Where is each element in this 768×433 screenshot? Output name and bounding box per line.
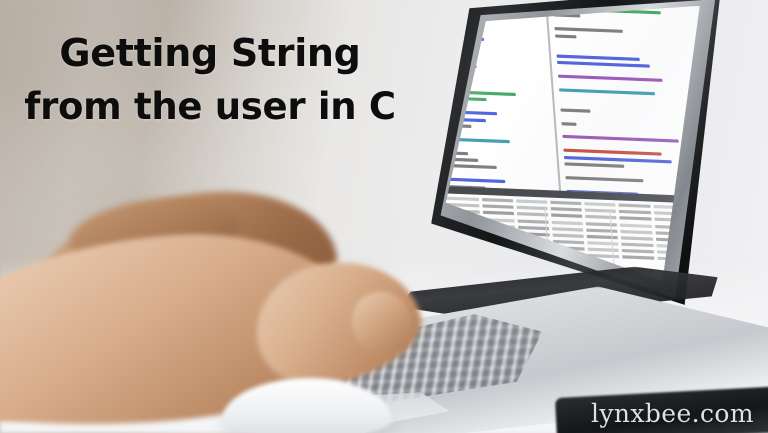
table-cell	[551, 207, 582, 211]
table-cell	[619, 203, 650, 207]
table-cell	[690, 239, 708, 243]
code-line	[558, 74, 663, 81]
code-line	[556, 54, 640, 61]
table-cell	[620, 223, 651, 227]
banner-title: Getting String from the user in C	[0, 26, 420, 134]
table-cell	[482, 198, 513, 202]
code-line	[432, 15, 468, 20]
table-cell	[552, 220, 583, 224]
table-cell	[691, 252, 708, 256]
code-line	[432, 137, 509, 143]
code-line	[565, 176, 643, 182]
table-cell	[619, 210, 650, 214]
table-cell	[621, 230, 652, 234]
table-cell	[553, 233, 584, 237]
code-line	[562, 135, 679, 143]
code-line	[561, 122, 576, 126]
table-cell	[621, 236, 652, 240]
table-cell	[623, 256, 654, 260]
code-line	[560, 108, 590, 112]
table-cell	[516, 206, 547, 210]
table-cell	[518, 226, 549, 230]
code-line	[554, 27, 623, 33]
table-cell	[432, 242, 482, 247]
table-cell	[517, 212, 548, 216]
table-cell	[550, 201, 581, 205]
table-cell	[551, 214, 582, 218]
code-line	[432, 56, 464, 61]
code-line	[559, 88, 655, 95]
code-line	[564, 156, 672, 163]
site-watermark: lynxbee.com	[591, 399, 754, 428]
table-cell	[587, 235, 618, 239]
table-cell	[585, 202, 616, 206]
table-cell	[552, 227, 583, 231]
table-cell	[585, 209, 616, 213]
table-cell	[622, 249, 653, 253]
table-cell	[483, 211, 514, 215]
table-cell	[690, 245, 708, 249]
title-line-1: Getting String	[14, 26, 406, 80]
table-cell	[485, 250, 516, 254]
table-cell	[587, 241, 618, 245]
table-cell	[588, 248, 619, 252]
table-cell	[433, 248, 483, 253]
table-cell	[622, 243, 653, 247]
table-cell	[586, 222, 617, 226]
table-cell	[620, 217, 651, 221]
table-cell	[587, 228, 618, 232]
code-line	[564, 162, 624, 168]
table-cell	[482, 204, 513, 208]
table-cell	[516, 199, 547, 203]
code-line	[432, 89, 516, 96]
tutorial-banner-image: Getting String from the user in C lynxbe…	[0, 0, 768, 433]
table-cell	[517, 219, 548, 223]
table-cell	[691, 259, 708, 263]
table-cell	[586, 215, 617, 219]
code-line	[563, 149, 662, 156]
code-line	[555, 34, 576, 38]
code-line	[432, 22, 451, 26]
title-line-2: from the user in C	[14, 80, 406, 134]
code-line	[432, 1, 494, 7]
code-line	[557, 61, 650, 68]
